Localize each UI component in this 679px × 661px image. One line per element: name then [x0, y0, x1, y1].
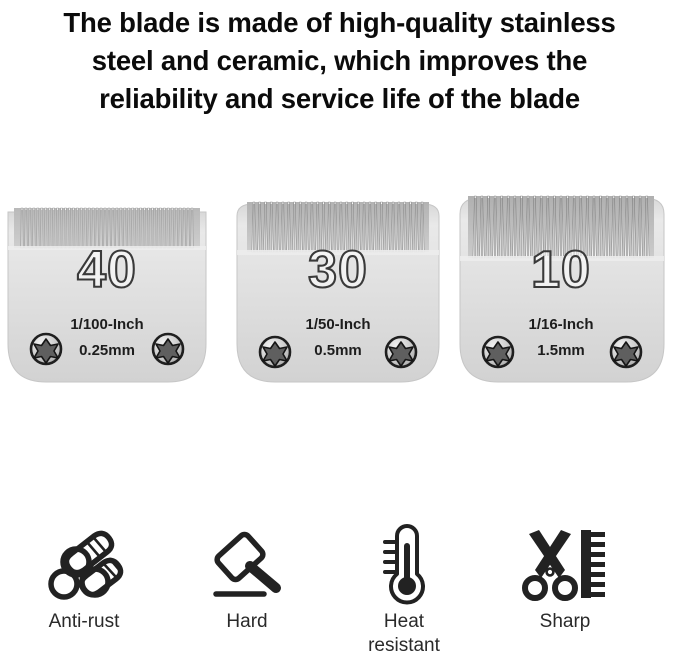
feature-sharp: Sharp	[481, 520, 649, 661]
feature-label-heat-resistant: Heat resistant	[320, 610, 488, 658]
blade-mm-40: 0.25mm	[0, 343, 214, 359]
blade-card-40: 40 1/100-Inch 0.25mm	[0, 186, 214, 396]
blade-mm-10: 1.5mm	[454, 343, 668, 359]
hammer-icon	[163, 520, 331, 606]
blade-gallery: 40 1/100-Inch 0.25mm	[0, 186, 679, 406]
blade-card-30: 30 1/50-Inch 0.5mm	[231, 186, 445, 396]
headline-line-3: reliability and service life of the blad…	[0, 80, 679, 118]
feature-label-sharp: Sharp	[481, 610, 649, 634]
stacked-pipes-icon	[0, 520, 168, 606]
blade-inch-40: 1/100-Inch	[0, 317, 214, 333]
feature-anti-rust: Anti-rust	[0, 520, 168, 661]
blade-number-30: 30	[231, 244, 445, 296]
feature-hard: Hard	[163, 520, 331, 661]
thermometer-icon	[320, 520, 488, 606]
blade-mm-30: 0.5mm	[231, 343, 445, 359]
blade-number-40: 40	[0, 244, 214, 296]
blade-number-10: 10	[454, 244, 668, 296]
feature-label-anti-rust: Anti-rust	[0, 610, 168, 634]
feature-row: Anti-rust Hard	[0, 520, 679, 661]
blade-inch-10: 1/16-Inch	[454, 317, 668, 333]
headline-line-2: steel and ceramic, which improves the	[0, 42, 679, 80]
blade-card-10: 10 1/16-Inch 1.5mm	[454, 186, 668, 396]
headline-line-1: The blade is made of high-quality stainl…	[0, 4, 679, 42]
feature-label-hard: Hard	[163, 610, 331, 634]
blade-inch-30: 1/50-Inch	[231, 317, 445, 333]
page-title: The blade is made of high-quality stainl…	[0, 0, 679, 118]
scissors-comb-icon	[481, 520, 649, 606]
feature-heat-resistant: Heat resistant	[320, 520, 488, 661]
